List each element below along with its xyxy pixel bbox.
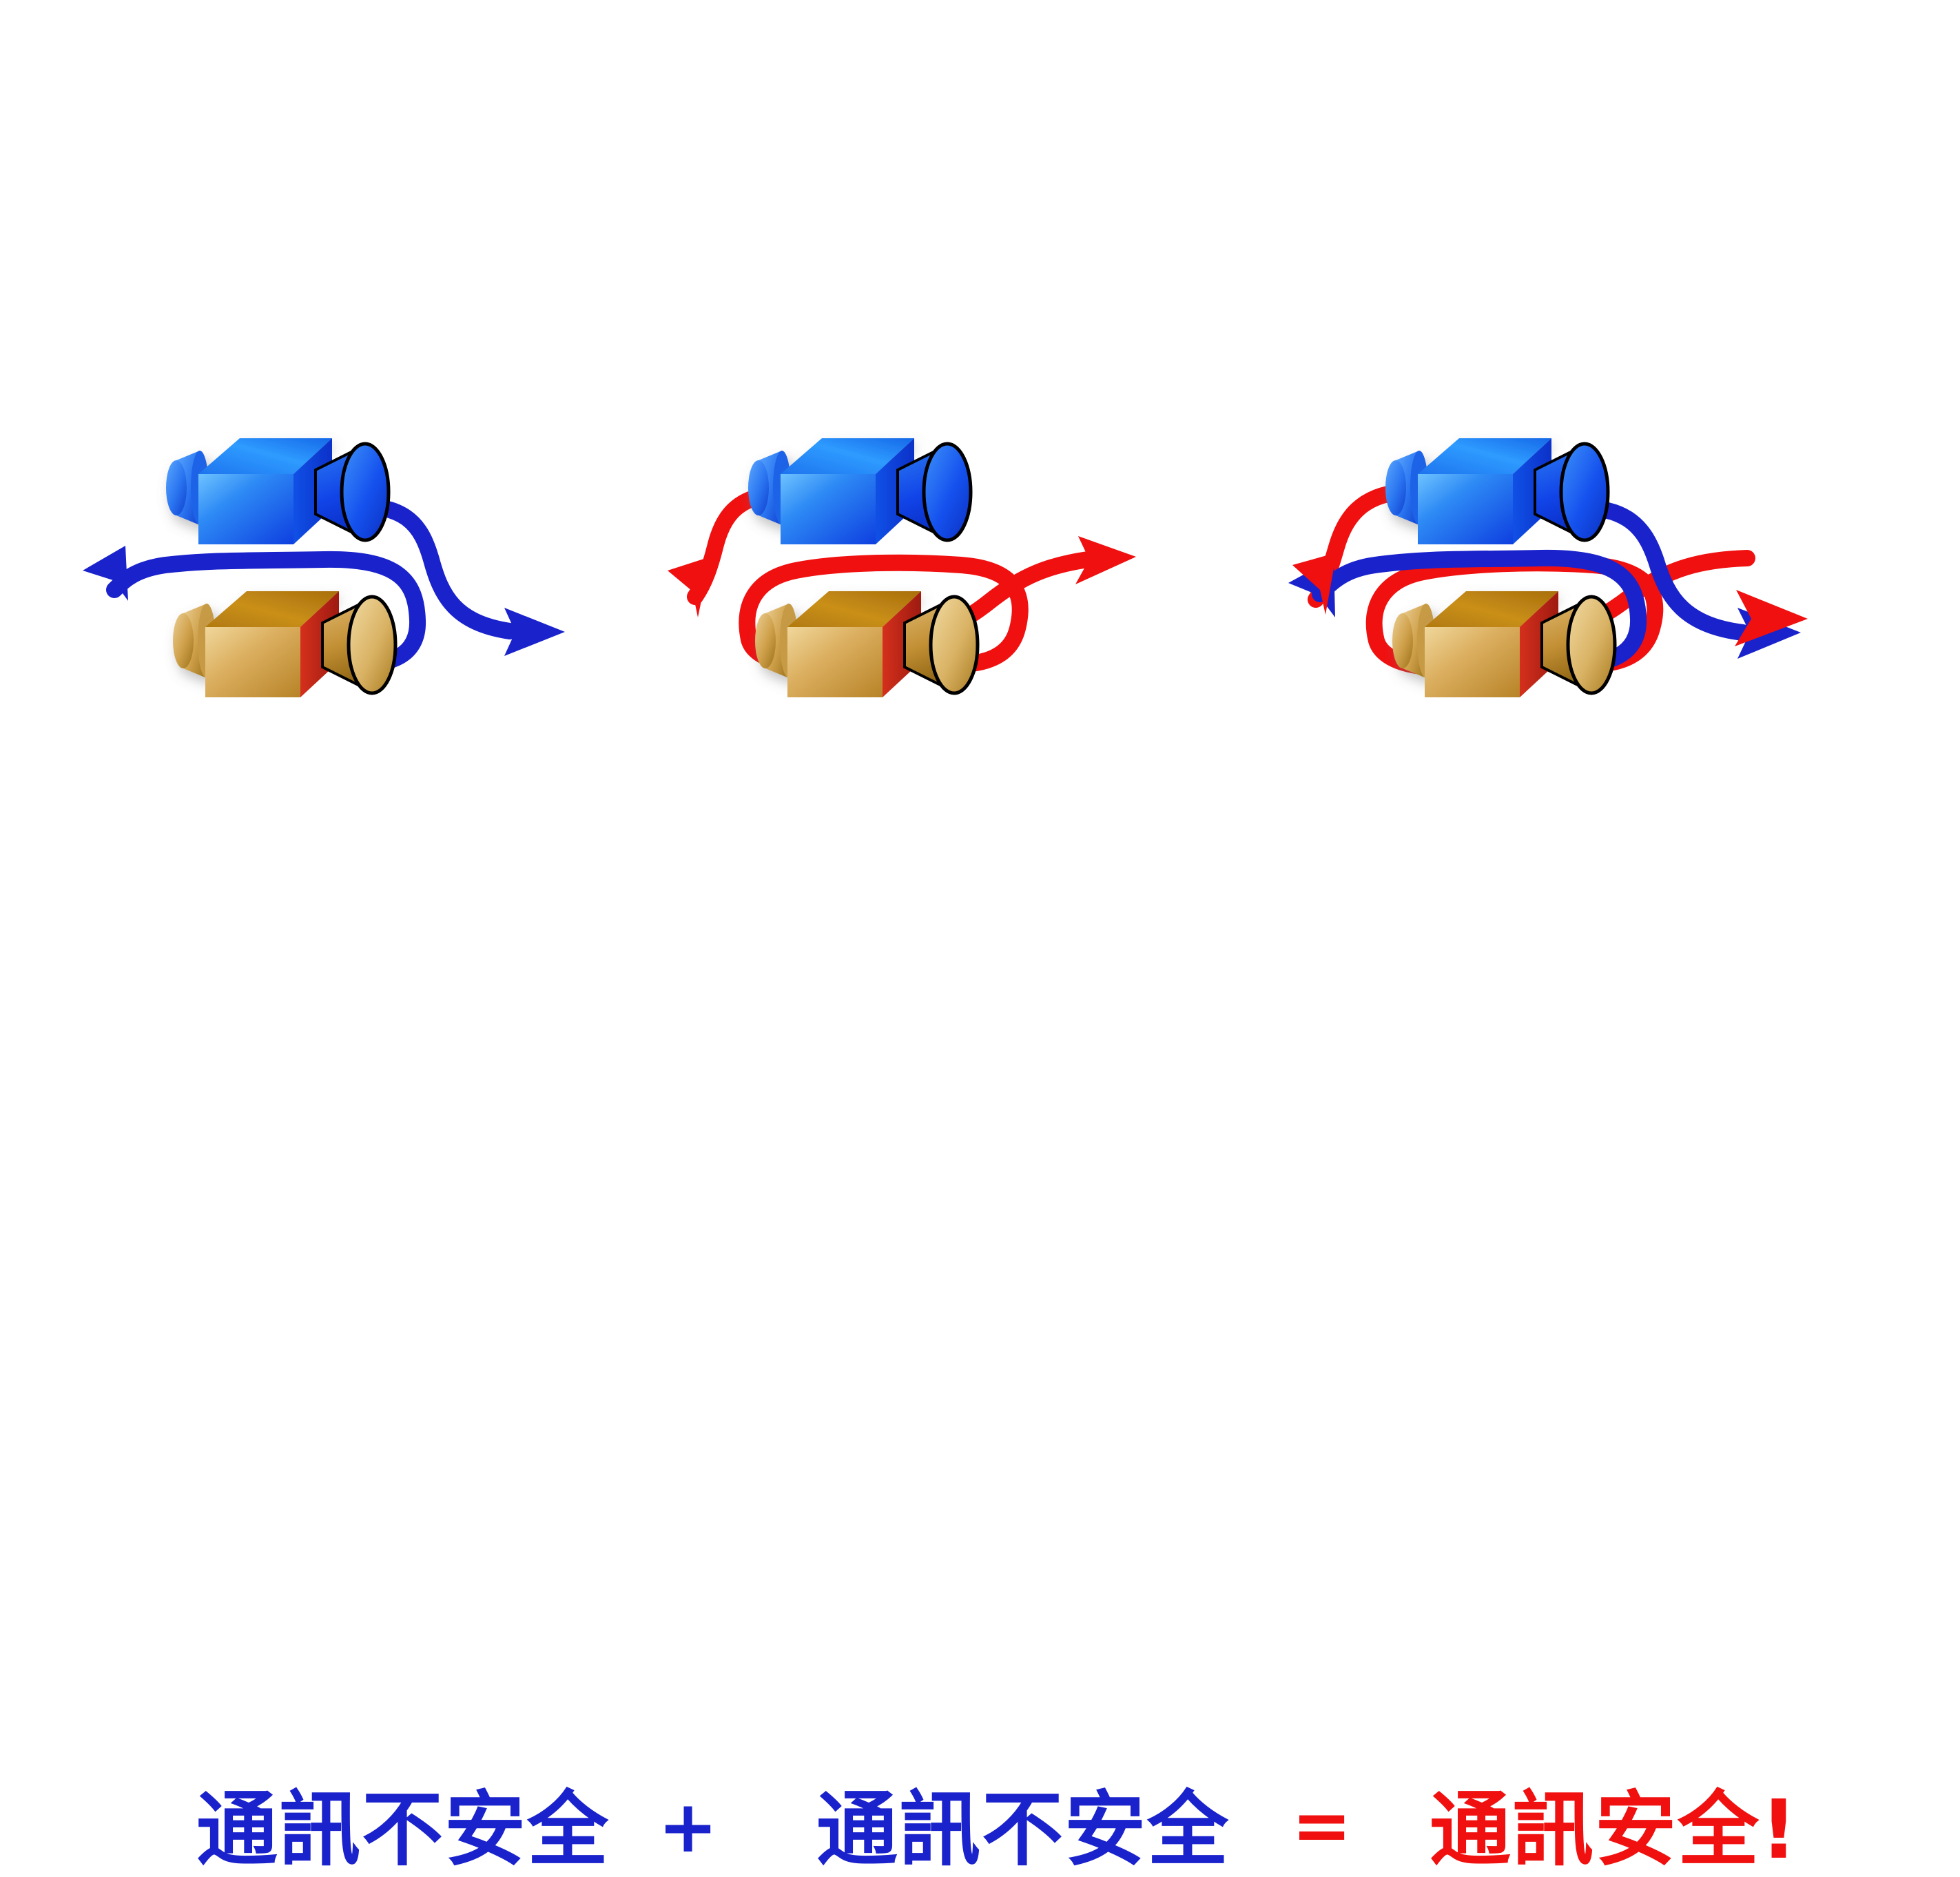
diagram-svg <box>0 0 1960 1470</box>
blue-camera <box>166 438 389 544</box>
caption-operator-equals: = <box>1292 1781 1353 1870</box>
tan-camera <box>1392 591 1615 697</box>
arrowhead-pair-right <box>1735 590 1808 659</box>
slide-canvas: 通訊不安全 + 通訊不安全 = 通訊安全! <box>0 0 1960 1470</box>
caption-row: 通訊不安全 + 通訊不安全 = 通訊安全! <box>0 889 1960 1006</box>
caption-term-1: 通訊不安全 <box>196 1785 610 1874</box>
caption-result: 通訊安全! <box>1430 1785 1799 1874</box>
diagram-group-left <box>83 438 565 697</box>
blue-camera <box>748 438 971 544</box>
blue-camera <box>1385 438 1608 544</box>
tan-camera <box>755 591 978 697</box>
caption-term-2: 通訊不安全 <box>816 1785 1230 1874</box>
arrowhead-pair-left <box>1288 553 1337 617</box>
diagram-group-middle <box>668 438 1136 697</box>
diagram-group-right <box>1288 438 1808 697</box>
caption-operator-plus: + <box>658 1782 719 1871</box>
tan-camera <box>173 591 395 697</box>
